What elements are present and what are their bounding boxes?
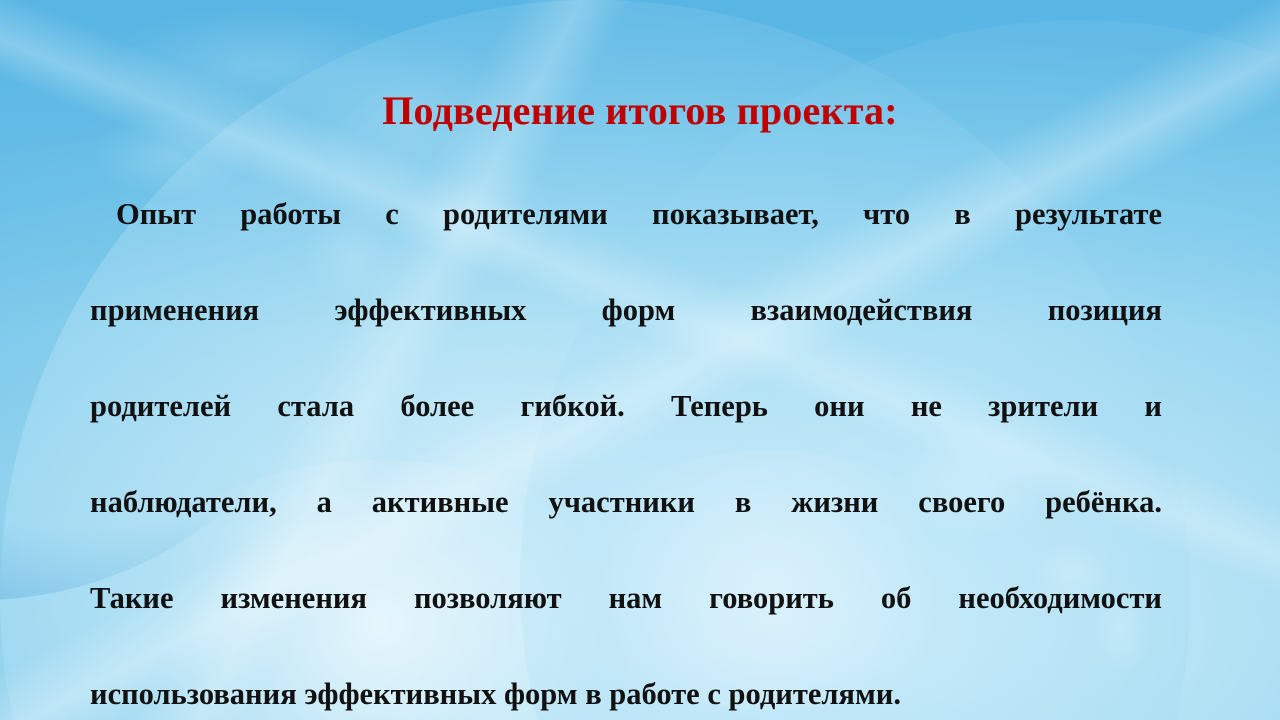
slide-body-text: Опыт работы с родителями показывает, что… — [90, 190, 1162, 718]
body-line-4-text: наблюдатели, а активные участники в жизн… — [90, 485, 1162, 519]
body-line-2-text: применения эффективных форм взаимодейств… — [90, 293, 1162, 327]
body-line-2: применения эффективных форм взаимодейств… — [90, 286, 1162, 382]
body-line-6-text: использования эффективных форм в работе … — [90, 677, 901, 711]
body-line-5-text: Такие изменения позволяют нам говорить о… — [90, 581, 1162, 615]
body-line-1: Опыт работы с родителями показывает, что… — [90, 190, 1162, 286]
body-line-4: наблюдатели, а активные участники в жизн… — [90, 478, 1162, 574]
body-line-3: родителей стала более гибкой. Теперь они… — [90, 382, 1162, 478]
body-line-3-text: родителей стала более гибкой. Теперь они… — [90, 389, 1162, 423]
body-line-1-text: Опыт работы с родителями показывает, что… — [116, 197, 1162, 231]
slide-title: Подведение итогов проекта: — [0, 89, 1280, 133]
slide-content: Подведение итогов проекта: Опыт работы с… — [0, 0, 1280, 720]
body-line-6: использования эффективных форм в работе … — [90, 670, 1162, 718]
body-line-5: Такие изменения позволяют нам говорить о… — [90, 574, 1162, 670]
presentation-slide: Подведение итогов проекта: Опыт работы с… — [0, 0, 1280, 720]
